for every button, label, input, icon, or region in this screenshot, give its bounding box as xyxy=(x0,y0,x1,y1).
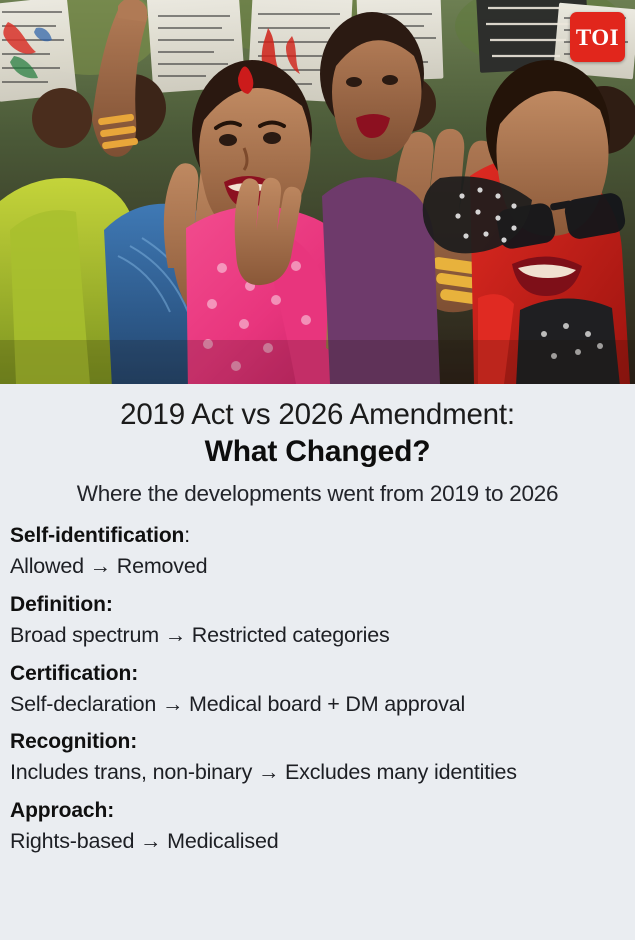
toi-logo-text: TOI xyxy=(576,26,619,49)
list-item: Self-identification: Allowed → Removed xyxy=(10,523,625,580)
list-item-label-colon: : xyxy=(184,524,190,547)
infographic-card: TOI 2019 Act vs 2026 Amendment: What Cha… xyxy=(0,0,635,940)
list-item-label-text: Definition: xyxy=(10,593,113,616)
list-item-label-text: Recognition: xyxy=(10,730,137,753)
list-item-label: Approach: xyxy=(10,798,625,824)
list-item-value: Allowed → Removed xyxy=(10,553,625,580)
list-item-label: Definition: xyxy=(10,592,625,618)
list-item: Definition: Broad spectrum → Restricted … xyxy=(10,592,625,649)
list-item-value: Self-declaration → Medical board + DM ap… xyxy=(10,691,625,718)
content-panel: 2019 Act vs 2026 Amendment: What Changed… xyxy=(0,384,635,940)
list-item-label: Recognition: xyxy=(10,729,625,755)
list-item-label: Certification: xyxy=(10,661,625,687)
protest-photo-illustration xyxy=(0,0,635,384)
list-item-label: Self-identification: xyxy=(10,523,625,549)
list-item: Approach: Rights-based → Medicalised xyxy=(10,798,625,855)
toi-logo[interactable]: TOI xyxy=(570,12,625,62)
list-item-label-text: Self-identification xyxy=(10,524,184,547)
page-subtitle: Where the developments went from 2019 to… xyxy=(10,480,625,507)
list-item-label-text: Approach: xyxy=(10,799,114,822)
list-item: Recognition: Includes trans, non-binary … xyxy=(10,729,625,786)
comparison-list: Self-identification: Allowed → Removed D… xyxy=(10,523,625,854)
title-block: 2019 Act vs 2026 Amendment: What Changed… xyxy=(10,384,625,470)
list-item-value: Broad spectrum → Restricted categories xyxy=(10,622,625,649)
list-item: Certification: Self-declaration → Medica… xyxy=(10,661,625,718)
page-title-line1: 2019 Act vs 2026 Amendment: xyxy=(10,398,625,433)
list-item-value: Includes trans, non-binary → Excludes ma… xyxy=(10,759,625,786)
list-item-label-text: Certification: xyxy=(10,662,138,685)
header-photo: TOI xyxy=(0,0,635,384)
list-item-value: Rights-based → Medicalised xyxy=(10,828,625,855)
page-title-line2: What Changed? xyxy=(10,434,625,471)
